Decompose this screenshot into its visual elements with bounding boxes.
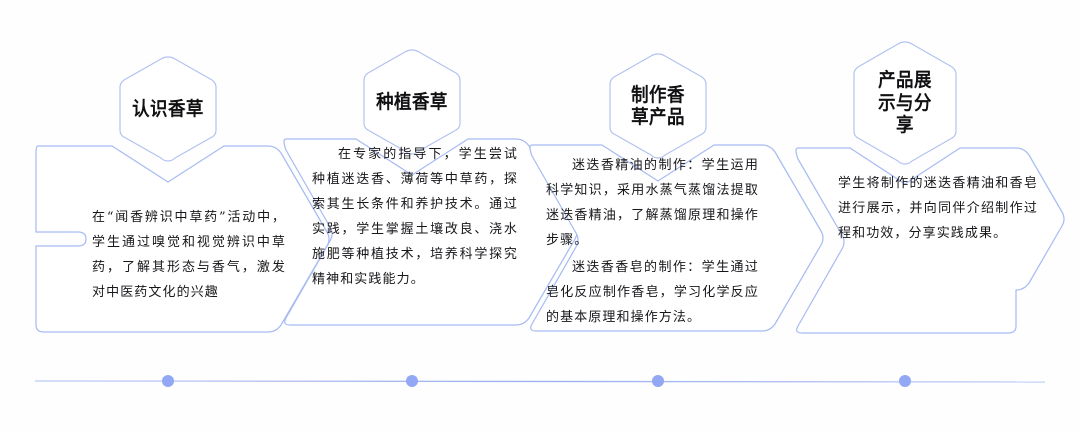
step-body-4: 学生将制作的迷迭香精油和香皂进行展示，并向同伴介绍制作过程和功效，分享实践成果。	[838, 172, 1038, 247]
step-title-1: 认识香草	[122, 57, 214, 161]
step-body-2: 在专家的指导下，学生尝试种植迷迭香、薄荷等中草药，探索其生长条件和养护技术。通过…	[312, 143, 518, 293]
step-title-2: 种植香草	[366, 50, 458, 154]
timeline-dot-1[interactable]	[162, 375, 174, 387]
timeline-dot-4[interactable]	[899, 375, 911, 387]
step-paragraph: 在“闻香辨识中草药”活动中，学生通过嗅觉和视觉辨识中草药，了解其形态与香气，激发…	[92, 206, 286, 306]
step-body-1: 在“闻香辨识中草药”活动中，学生通过嗅觉和视觉辨识中草药，了解其形态与香气，激发…	[92, 206, 286, 306]
step-paragraph: 迷迭香香皂的制作：学生通过皂化反应制作香皂，学习化学反应的基本原理和操作方法。	[546, 256, 759, 331]
step-title-4: 产品展 示与分 享	[856, 42, 954, 164]
step-paragraph: 迷迭香精油的制作：学生运用科学知识，采用水蒸气蒸馏法提取迷迭香精油，了解蒸馏原理…	[546, 154, 759, 254]
timeline-axis	[35, 381, 1045, 382]
step-paragraph: 学生将制作的迷迭香精油和香皂进行展示，并向同伴介绍制作过程和功效，分享实践成果。	[838, 172, 1038, 247]
timeline-dot-3[interactable]	[652, 375, 664, 387]
step-paragraph: 在专家的指导下，学生尝试种植迷迭香、薄荷等中草药，探索其生长条件和养护技术。通过…	[312, 143, 518, 293]
step-body-3: 迷迭香精油的制作：学生运用科学知识，采用水蒸气蒸馏法提取迷迭香精油，了解蒸馏原理…	[546, 154, 759, 331]
timeline-dot-2[interactable]	[406, 375, 418, 387]
step-title-3: 制作香 草产品	[612, 54, 704, 158]
infographic-canvas: 认识香草 种植香草 制作香 草产品 产品展 示与分 享 在“闻香辨识中草药”活动…	[0, 0, 1080, 433]
